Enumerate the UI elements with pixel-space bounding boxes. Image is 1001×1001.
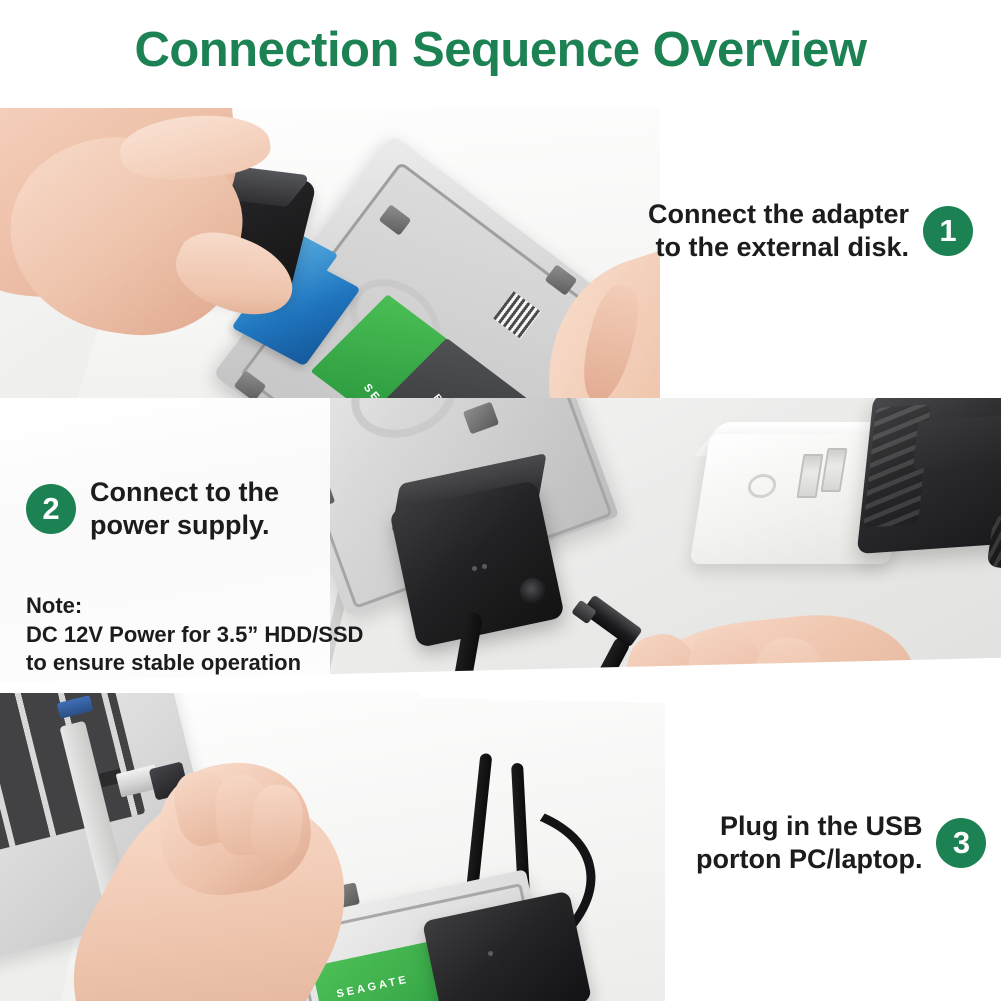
step-3-text: Plug in the USB porton PC/laptop. [696, 810, 922, 876]
infographic-page: Connection Sequence Overview SEAGATE BAR… [0, 0, 1001, 1001]
step-3-photo: SEAGATE [0, 693, 665, 1001]
step-1-badge: 1 [923, 206, 973, 256]
power-brick-label-plate [913, 415, 1001, 469]
photo-1-canvas: SEAGATE BARRACUDA [0, 108, 660, 398]
photo-3-canvas: SEAGATE [0, 693, 665, 1001]
page-title: Connection Sequence Overview [0, 22, 1001, 78]
step-1-caption: Connect the adapter to the external disk… [648, 198, 973, 264]
step-2-caption: 2 Connect to the power supply. [26, 476, 279, 542]
note-text: Note: DC 12V Power for 3.5” HDD/SSD to e… [26, 592, 363, 678]
adapter-led-icon [488, 951, 493, 956]
step-2-badge: 2 [26, 484, 76, 534]
adapter-led-icon [472, 566, 477, 571]
adapter-led-icon [482, 564, 487, 569]
step-3-caption: Plug in the USB porton PC/laptop. 3 [696, 810, 986, 876]
step-2-text: Connect to the power supply. [90, 476, 279, 542]
step-1-text: Connect the adapter to the external disk… [648, 198, 909, 264]
step-3-badge: 3 [936, 818, 986, 868]
step-1-photo: SEAGATE BARRACUDA [0, 108, 660, 398]
photo-2-canvas [330, 398, 1001, 698]
